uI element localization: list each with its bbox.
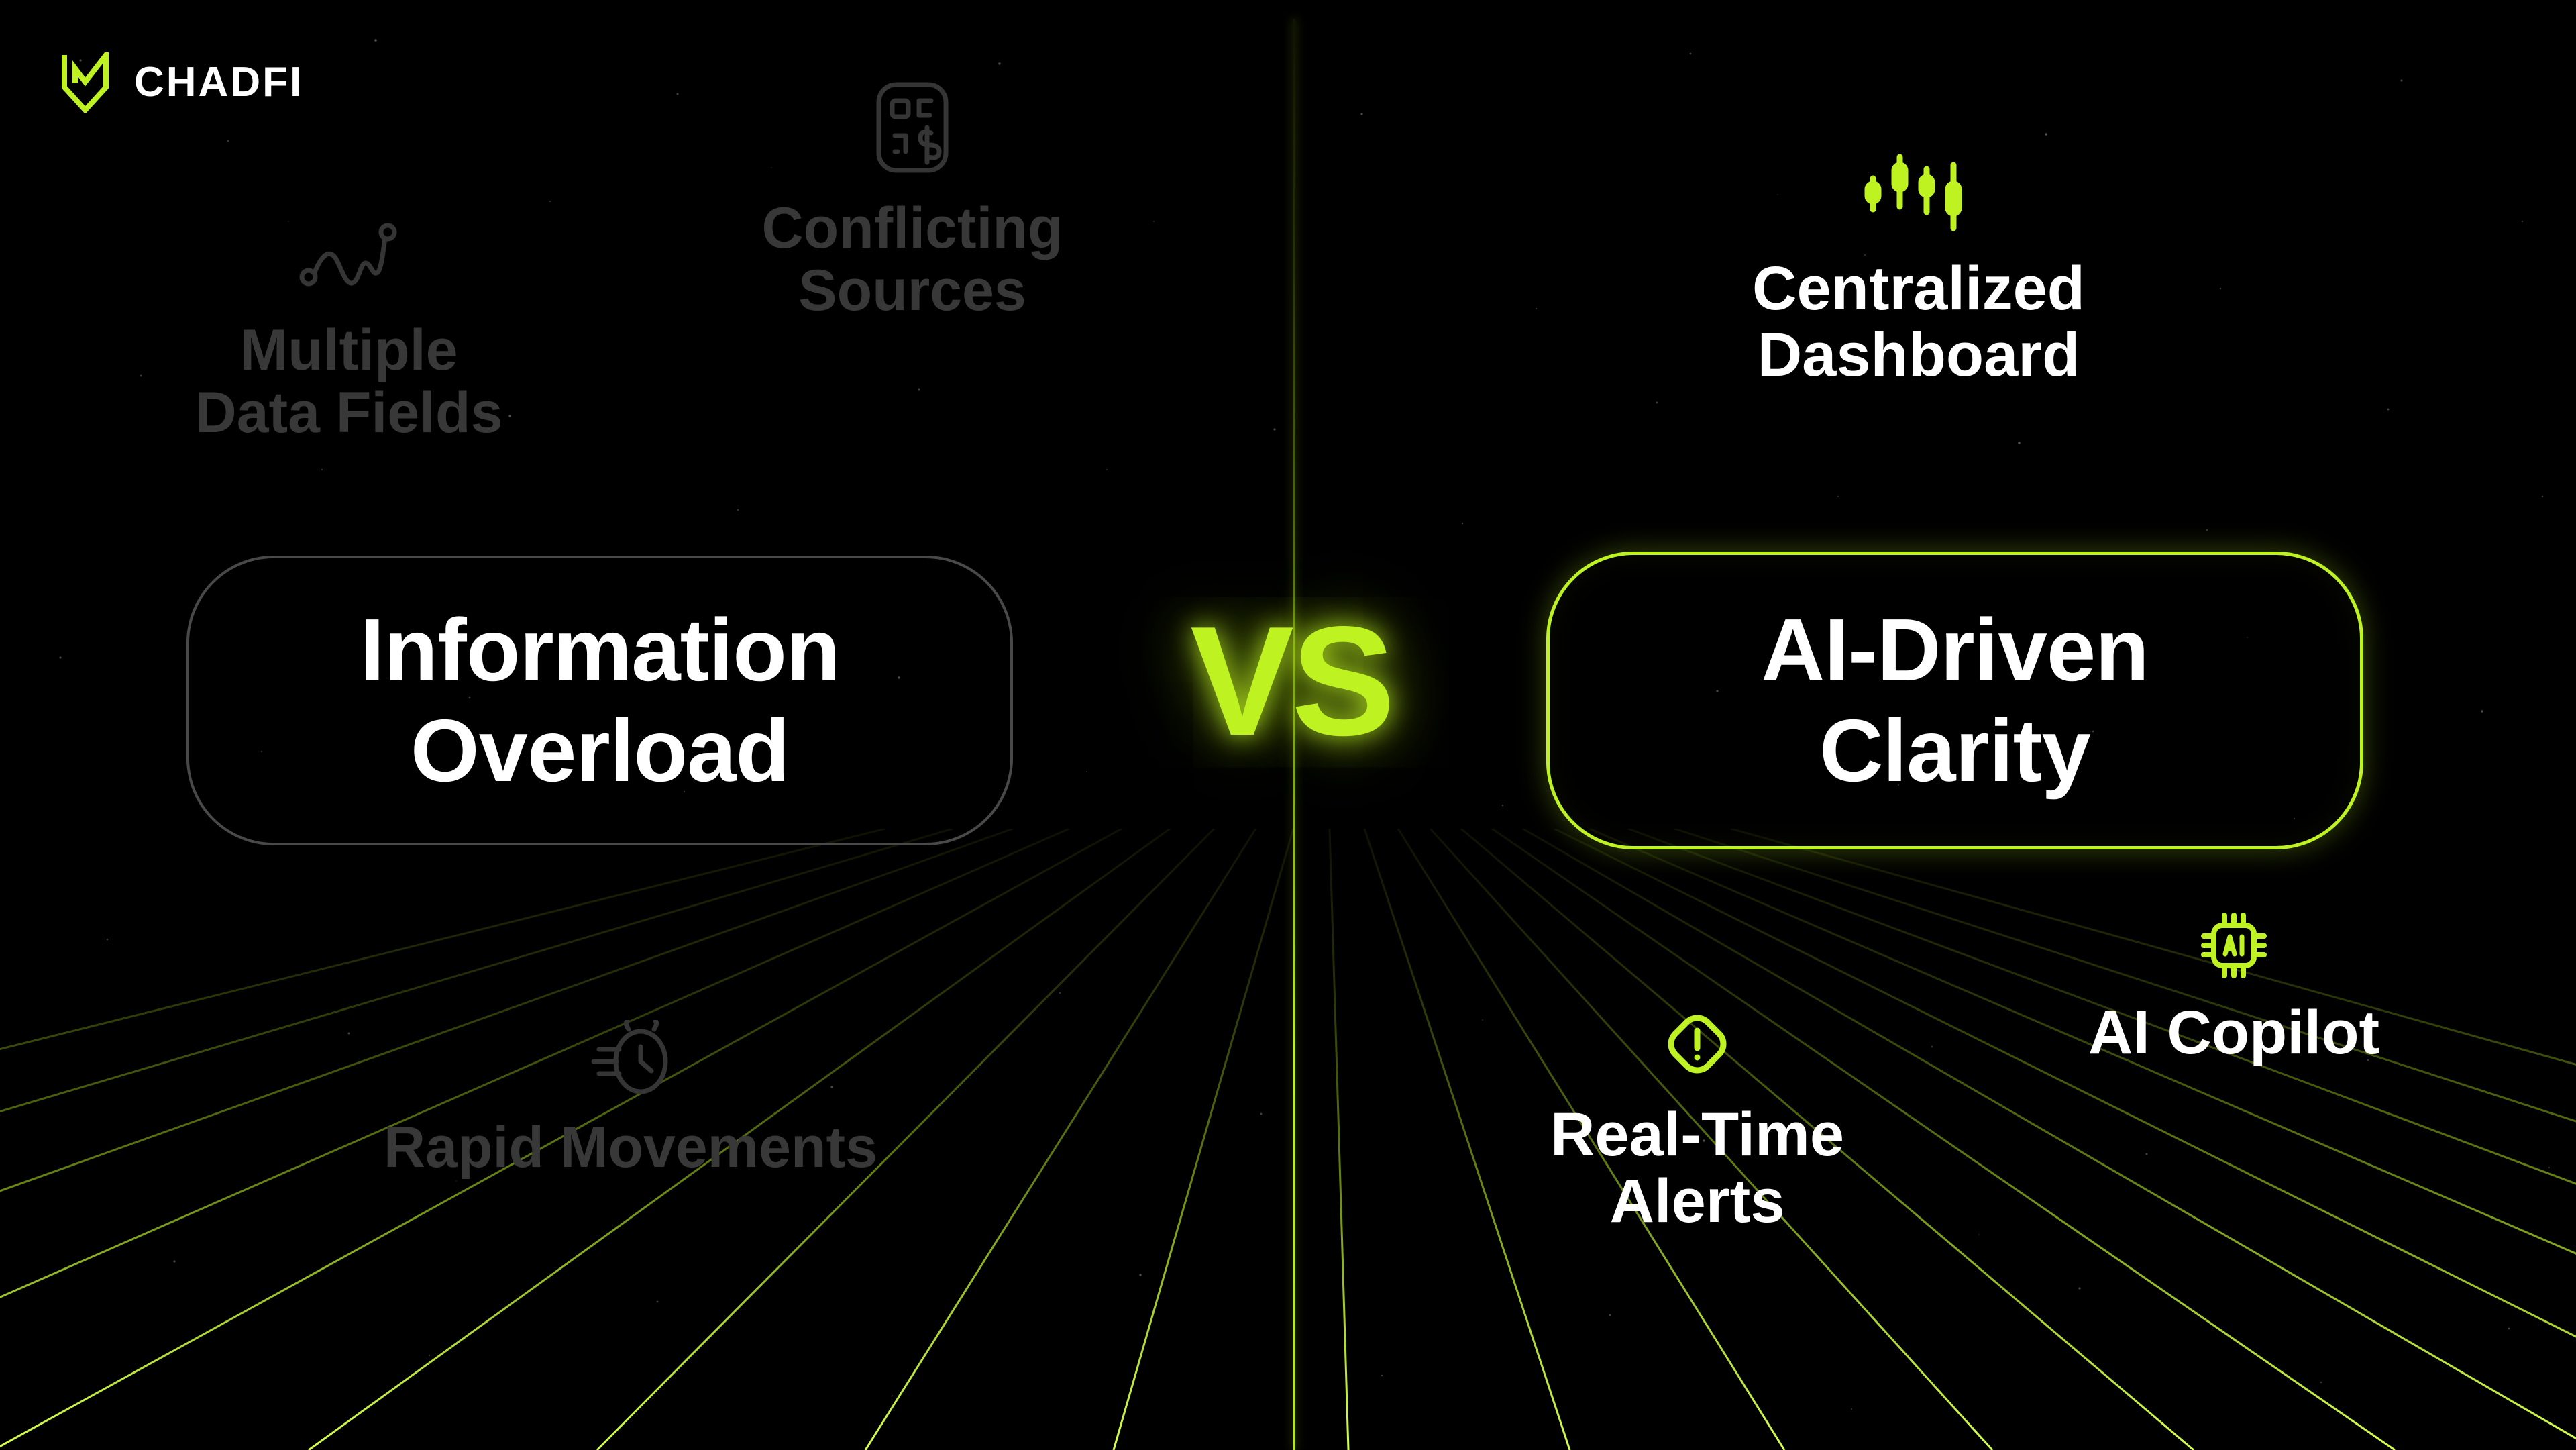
candlestick-chart-icon: [1664, 154, 2173, 231]
feature-label: Multiple Data Fields: [101, 319, 597, 444]
feature-rapid-movements: Rapid Movements: [201, 1020, 1060, 1179]
brand-logo[interactable]: CHADFI: [62, 52, 303, 113]
alert-diamond-icon: [1436, 1006, 1959, 1082]
feature-label: Rapid Movements: [201, 1117, 1060, 1179]
solution-pill-ai-driven-clarity[interactable]: AI-Driven Clarity: [1546, 552, 2363, 849]
feature-label: Centralized Dashboard: [1664, 256, 2173, 389]
problem-pill-information-overload[interactable]: Information Overload: [186, 556, 1013, 845]
chadfi-shield-logo-icon: [62, 52, 109, 113]
ai-chip-icon: [2026, 906, 2442, 985]
problem-title: Information Overload: [360, 600, 840, 802]
feature-real-time-alerts: Real-Time Alerts: [1436, 1006, 1959, 1235]
qr-code-dollar-icon: [691, 81, 1134, 174]
versus-label: VS: [1147, 604, 1436, 760]
feature-multiple-data-fields: Multiple Data Fields: [101, 221, 597, 444]
feature-conflicting-sources: Conflicting Sources: [691, 81, 1134, 322]
solution-title: AI-Driven Clarity: [1761, 600, 2149, 802]
alarm-clock-speed-icon: [201, 1020, 1060, 1099]
feature-centralized-dashboard: Centralized Dashboard: [1664, 154, 2173, 389]
brand-name: CHADFI: [134, 62, 303, 103]
feature-label: Conflicting Sources: [691, 197, 1134, 322]
line-chart-squiggle-icon: [101, 221, 597, 295]
feature-ai-copilot: AI Copilot: [2026, 906, 2442, 1066]
feature-label: AI Copilot: [2026, 1000, 2442, 1066]
slide-canvas: CHADFI Multiple Data Fields Conflicting …: [0, 0, 2576, 1450]
feature-label: Real-Time Alerts: [1436, 1102, 1959, 1235]
